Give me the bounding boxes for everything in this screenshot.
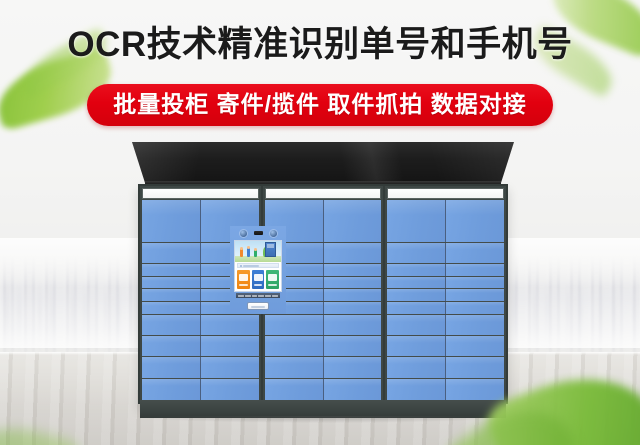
locker-cabinet [138, 184, 508, 404]
locker-door[interactable] [387, 200, 446, 242]
locker-door[interactable] [446, 336, 504, 356]
locker-door[interactable] [387, 243, 446, 263]
locker-door[interactable] [142, 379, 201, 400]
locker-door[interactable] [446, 357, 504, 377]
locker-door[interactable] [324, 379, 382, 400]
locker-door[interactable] [324, 336, 382, 356]
envelope-icon [268, 274, 277, 281]
locker-row [387, 243, 504, 264]
illustration-person-green [254, 250, 257, 257]
kiosk-hero-illustration [235, 241, 281, 262]
illustration-person-green-head [254, 248, 257, 251]
illustration-person-blue [247, 248, 250, 257]
locker-door[interactable] [446, 379, 504, 400]
pickup-button-label [254, 284, 263, 286]
feature-banner-text: 批量投柜 寄件/揽件 取件抓拍 数据对接 [113, 91, 527, 117]
locker-row [142, 379, 259, 400]
locker-door[interactable] [324, 315, 382, 335]
locker-door[interactable] [324, 243, 382, 263]
locker-door[interactable] [142, 200, 201, 242]
locker-door[interactable] [446, 243, 504, 263]
locker-row [387, 302, 504, 315]
locker-door[interactable] [201, 379, 259, 400]
locker-door[interactable] [265, 379, 324, 400]
locker-row [387, 289, 504, 302]
locker-row [387, 200, 504, 243]
locker-row [265, 336, 382, 357]
keypad-key[interactable] [272, 295, 278, 297]
feature-banner-pill: 批量投柜 寄件/揽件 取件抓拍 数据对接 [87, 84, 553, 126]
keypad-key[interactable] [252, 295, 258, 297]
status-text-placeholder [243, 265, 259, 267]
illustration-person-blue-head [247, 246, 250, 249]
feature-banner: 批量投柜 寄件/揽件 取件抓拍 数据对接 [0, 84, 640, 126]
illustration-person-orange [240, 249, 243, 257]
bay-right-header-panel [387, 188, 504, 199]
locker-door[interactable] [324, 277, 382, 289]
camera-lens-left-icon [240, 230, 247, 237]
locker-door[interactable] [387, 277, 446, 289]
locker-door[interactable] [446, 289, 504, 301]
pickup-button[interactable] [252, 270, 265, 289]
deposit-button-label [239, 284, 248, 286]
status-dot-icon [240, 265, 242, 267]
locker-door[interactable] [324, 264, 382, 276]
locker-door[interactable] [387, 336, 446, 356]
locker-door[interactable] [446, 264, 504, 276]
canopy-sheen [132, 142, 514, 184]
deposit-button[interactable] [237, 270, 250, 289]
locker-door[interactable] [324, 200, 382, 242]
keypad-key[interactable] [265, 295, 271, 297]
locker-door[interactable] [201, 336, 259, 356]
camera-lens-right-icon [270, 230, 277, 237]
locker-row [265, 357, 382, 378]
locker-door[interactable] [387, 264, 446, 276]
locker-row [142, 336, 259, 357]
smart-parcel-locker [138, 142, 508, 418]
send-button-label [268, 284, 277, 286]
locker-door[interactable] [201, 315, 259, 335]
locker-row [142, 315, 259, 336]
bay-right [385, 186, 506, 402]
locker-row [387, 277, 504, 290]
page-title: OCR技术精准识别单号和手机号 [0, 22, 640, 68]
locker-door[interactable] [446, 315, 504, 335]
locker-row [265, 379, 382, 400]
locker-door[interactable] [201, 357, 259, 377]
illustration-locker-icon [265, 242, 276, 257]
locker-door[interactable] [387, 379, 446, 400]
parcel-icon [239, 274, 248, 281]
locker-door[interactable] [142, 243, 201, 263]
locker-control-kiosk[interactable] [230, 226, 286, 314]
locker-row [387, 264, 504, 277]
locker-door[interactable] [265, 357, 324, 377]
barcode-scanner-slot-icon [254, 231, 263, 235]
locker-door[interactable] [142, 264, 201, 276]
kiosk-touchscreen[interactable] [234, 240, 282, 292]
locker-row [387, 336, 504, 357]
bay-center-header-panel [265, 188, 382, 199]
kiosk-action-buttons [235, 268, 281, 291]
locker-door[interactable] [387, 302, 446, 314]
locker-door[interactable] [142, 357, 201, 377]
locker-door[interactable] [446, 277, 504, 289]
locker-ground-shadow [134, 416, 512, 423]
locker-door[interactable] [324, 357, 382, 377]
locker-door[interactable] [387, 289, 446, 301]
illustration-person-orange-head [240, 247, 243, 250]
locker-row [387, 357, 504, 378]
card-reader-slot[interactable] [247, 302, 269, 310]
keypad-key[interactable] [258, 295, 264, 297]
bay-left-header-panel [142, 188, 259, 199]
promo-banner-stage: OCR技术精准识别单号和手机号 批量投柜 寄件/揽件 取件抓拍 数据对接 [0, 0, 640, 445]
numeric-keypad[interactable] [236, 293, 280, 298]
locker-door[interactable] [446, 302, 504, 314]
locker-door[interactable] [324, 302, 382, 314]
keypad-key[interactable] [238, 295, 244, 297]
locker-door[interactable] [142, 315, 201, 335]
locker-row [142, 357, 259, 378]
kiosk-sensor-bar [230, 226, 286, 240]
locker-door[interactable] [324, 289, 382, 301]
send-button[interactable] [266, 270, 279, 289]
locker-row [265, 315, 382, 336]
locker-door[interactable] [387, 315, 446, 335]
locker-row [387, 315, 504, 336]
locker-door[interactable] [142, 277, 201, 289]
locker-door[interactable] [142, 302, 201, 314]
bay-right-door-grid [387, 200, 504, 400]
locker-row [387, 379, 504, 400]
locker-door[interactable] [387, 357, 446, 377]
keypad-key[interactable] [245, 295, 251, 297]
locker-door[interactable] [142, 336, 201, 356]
locker-door[interactable] [265, 315, 324, 335]
locker-door[interactable] [446, 200, 504, 242]
locker-door[interactable] [265, 336, 324, 356]
box-icon [254, 274, 263, 281]
locker-canopy [132, 142, 514, 184]
locker-door[interactable] [142, 289, 201, 301]
